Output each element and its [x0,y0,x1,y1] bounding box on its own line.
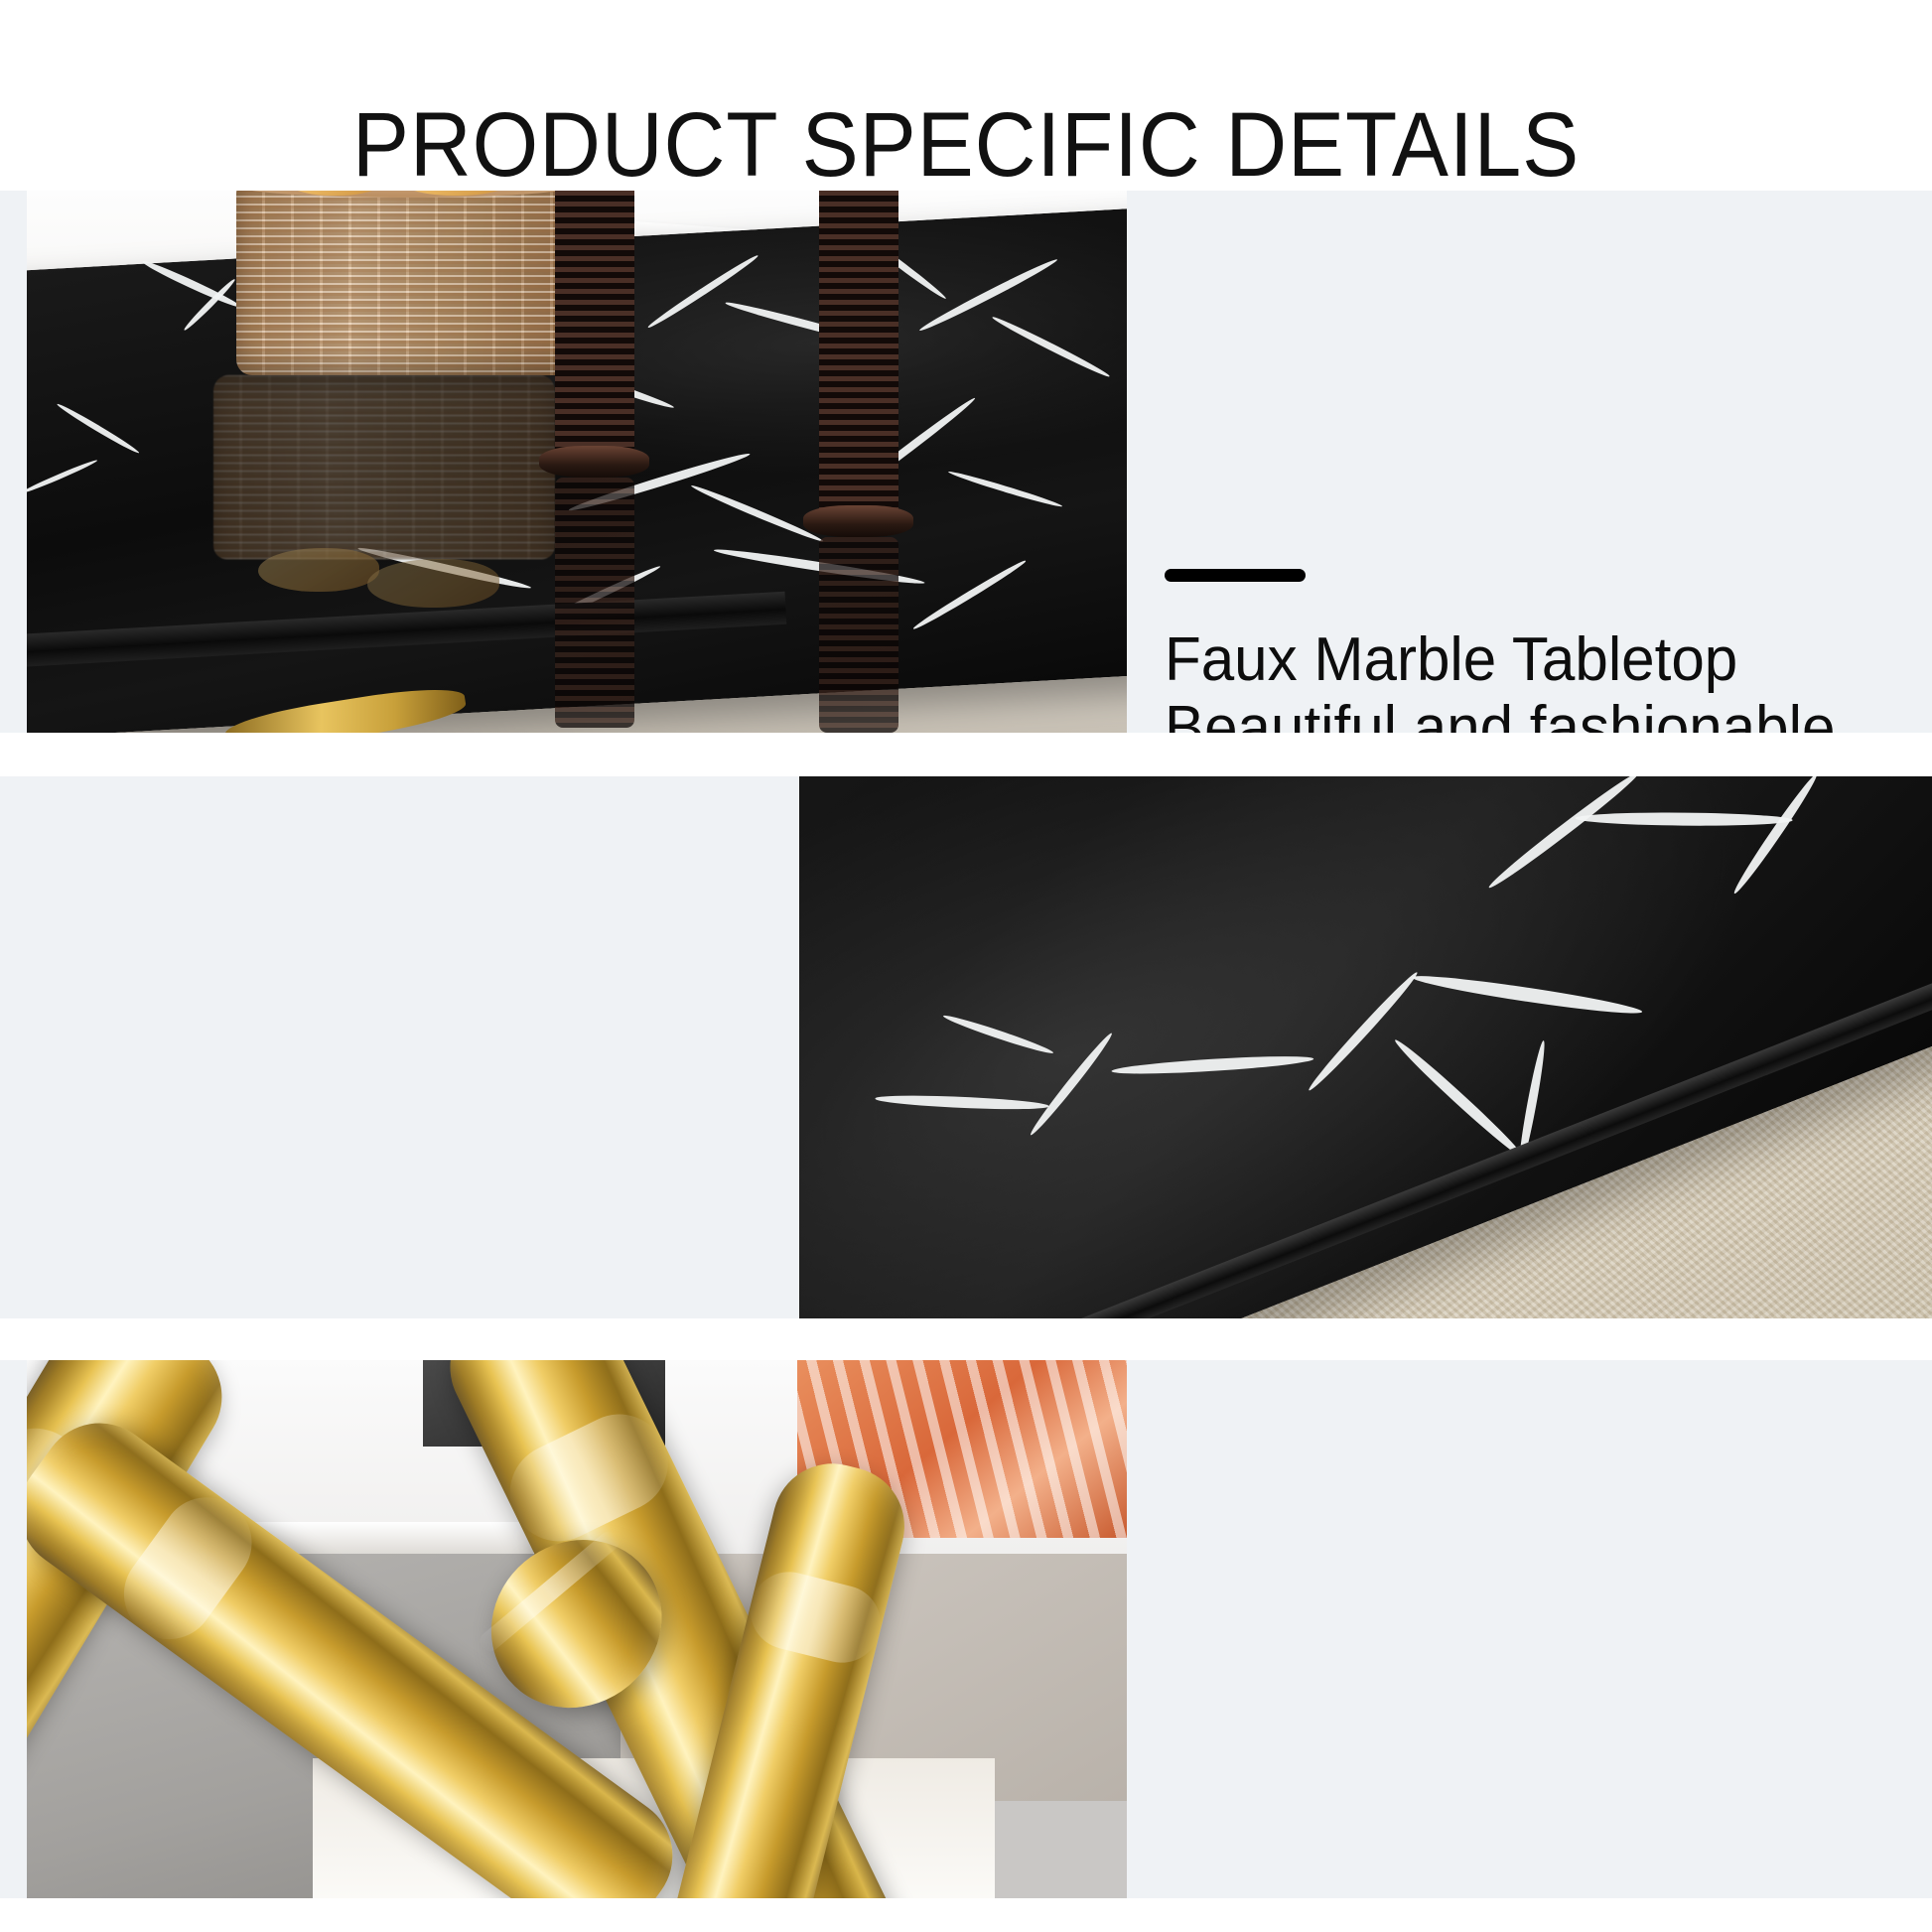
accent-dash [1165,569,1306,582]
product-photo-metal-legs [27,1360,1127,1898]
product-photo-faux-marble-tabletop [27,191,1127,733]
feature-panel-faux-marble-tabletop: Faux Marble Tabletop Beautiful and fashi… [0,191,1932,733]
product-detail-page: PRODUCT SPECIFIC DETAILS [0,0,1932,1932]
bread-reflection [258,548,379,592]
caption-faux-marble-tabletop: Faux Marble Tabletop Beautiful and fashi… [1165,569,1856,733]
photo-scene [799,776,1932,1318]
basket-rim [229,191,584,198]
product-photo-curved-edges [799,776,1932,1318]
photo-scene [27,1360,1127,1898]
ribbed-chair-leg-reflection [555,478,634,727]
feature-panel-curved-edges: Curved Edges Simple And Elegant [0,776,1932,1318]
basket-reflection [213,375,554,560]
caption-subheading: Beautiful and fashionable [1165,694,1835,733]
ribbed-chair-leg-collar [539,446,649,479]
rattan-basket [236,191,577,375]
ribbed-chair-leg-reflection [819,537,898,733]
feature-panel-metal-legs: Metal Legs Stable Support [0,1360,1932,1898]
caption-heading: Faux Marble Tabletop [1165,625,1835,694]
bread-reflection [367,559,499,608]
page-title: PRODUCT SPECIFIC DETAILS [68,99,1864,191]
photo-scene [27,191,1127,733]
ribbed-chair-leg [555,191,634,462]
ribbed-chair-leg-collar [803,505,913,538]
ribbed-chair-leg [819,191,898,521]
